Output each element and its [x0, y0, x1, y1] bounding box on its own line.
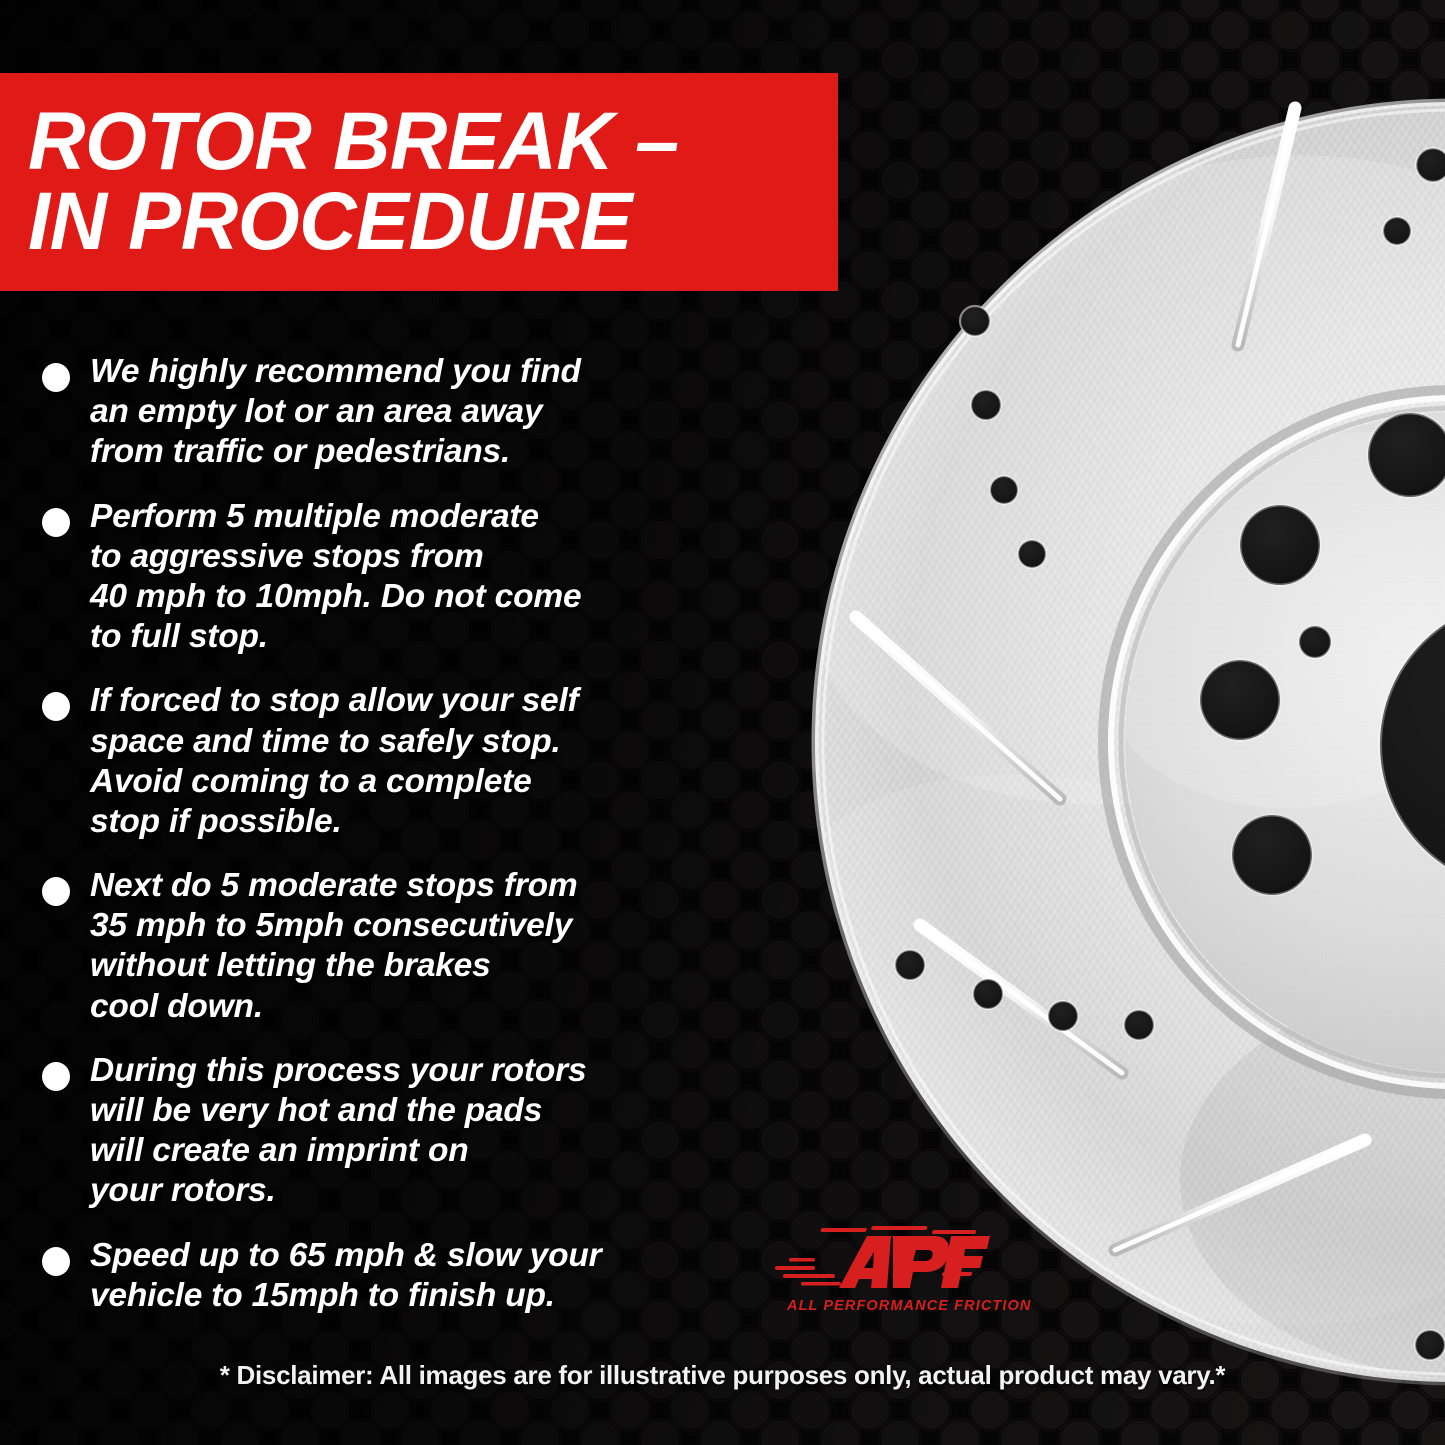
poster-canvas: ROTOR BREAK – IN PROCEDURE We highly rec…: [0, 0, 1445, 1445]
list-item: Speed up to 65 mph & slow your vehicle t…: [42, 1236, 762, 1316]
list-item-text: Speed up to 65 mph & slow your vehicle t…: [90, 1236, 601, 1316]
apf-logo-svg: [775, 1222, 990, 1294]
list-item: We highly recommend you find an empty lo…: [42, 352, 762, 473]
bullet-dot-icon: [42, 363, 70, 392]
list-item-text: We highly recommend you find an empty lo…: [90, 352, 581, 473]
list-item-text: During this process your rotors will be …: [90, 1051, 586, 1212]
apf-logo-mark: [775, 1222, 990, 1294]
page-title-line-1: ROTOR BREAK –: [28, 102, 814, 182]
bullet-dot-icon: [42, 1062, 70, 1091]
page-title-line-2: IN PROCEDURE: [28, 182, 814, 262]
list-item-text: If forced to stop allow your self space …: [90, 681, 579, 842]
list-item: If forced to stop allow your self space …: [42, 681, 762, 842]
list-item-text: Perform 5 multiple moderate to aggressiv…: [90, 497, 581, 658]
list-item-text: Next do 5 moderate stops from 35 mph to …: [90, 866, 578, 1027]
bullet-dot-icon: [42, 508, 70, 537]
procedure-step-list: We highly recommend you find an empty lo…: [42, 352, 762, 1340]
list-item: Next do 5 moderate stops from 35 mph to …: [42, 866, 762, 1027]
apf-logo-tagline: ALL PERFORMANCE FRICTION: [787, 1298, 1031, 1314]
bullet-dot-icon: [42, 877, 70, 906]
list-item: During this process your rotors will be …: [42, 1051, 762, 1212]
apf-brand-logo: ALL PERFORMANCE FRICTION: [775, 1222, 990, 1327]
bullet-dot-icon: [42, 1247, 70, 1276]
list-item: Perform 5 multiple moderate to aggressiv…: [42, 497, 762, 658]
disclaimer-text: * Disclaimer: All images are for illustr…: [0, 1360, 1445, 1391]
title-banner: ROTOR BREAK – IN PROCEDURE: [0, 73, 838, 291]
bullet-dot-icon: [42, 692, 70, 721]
